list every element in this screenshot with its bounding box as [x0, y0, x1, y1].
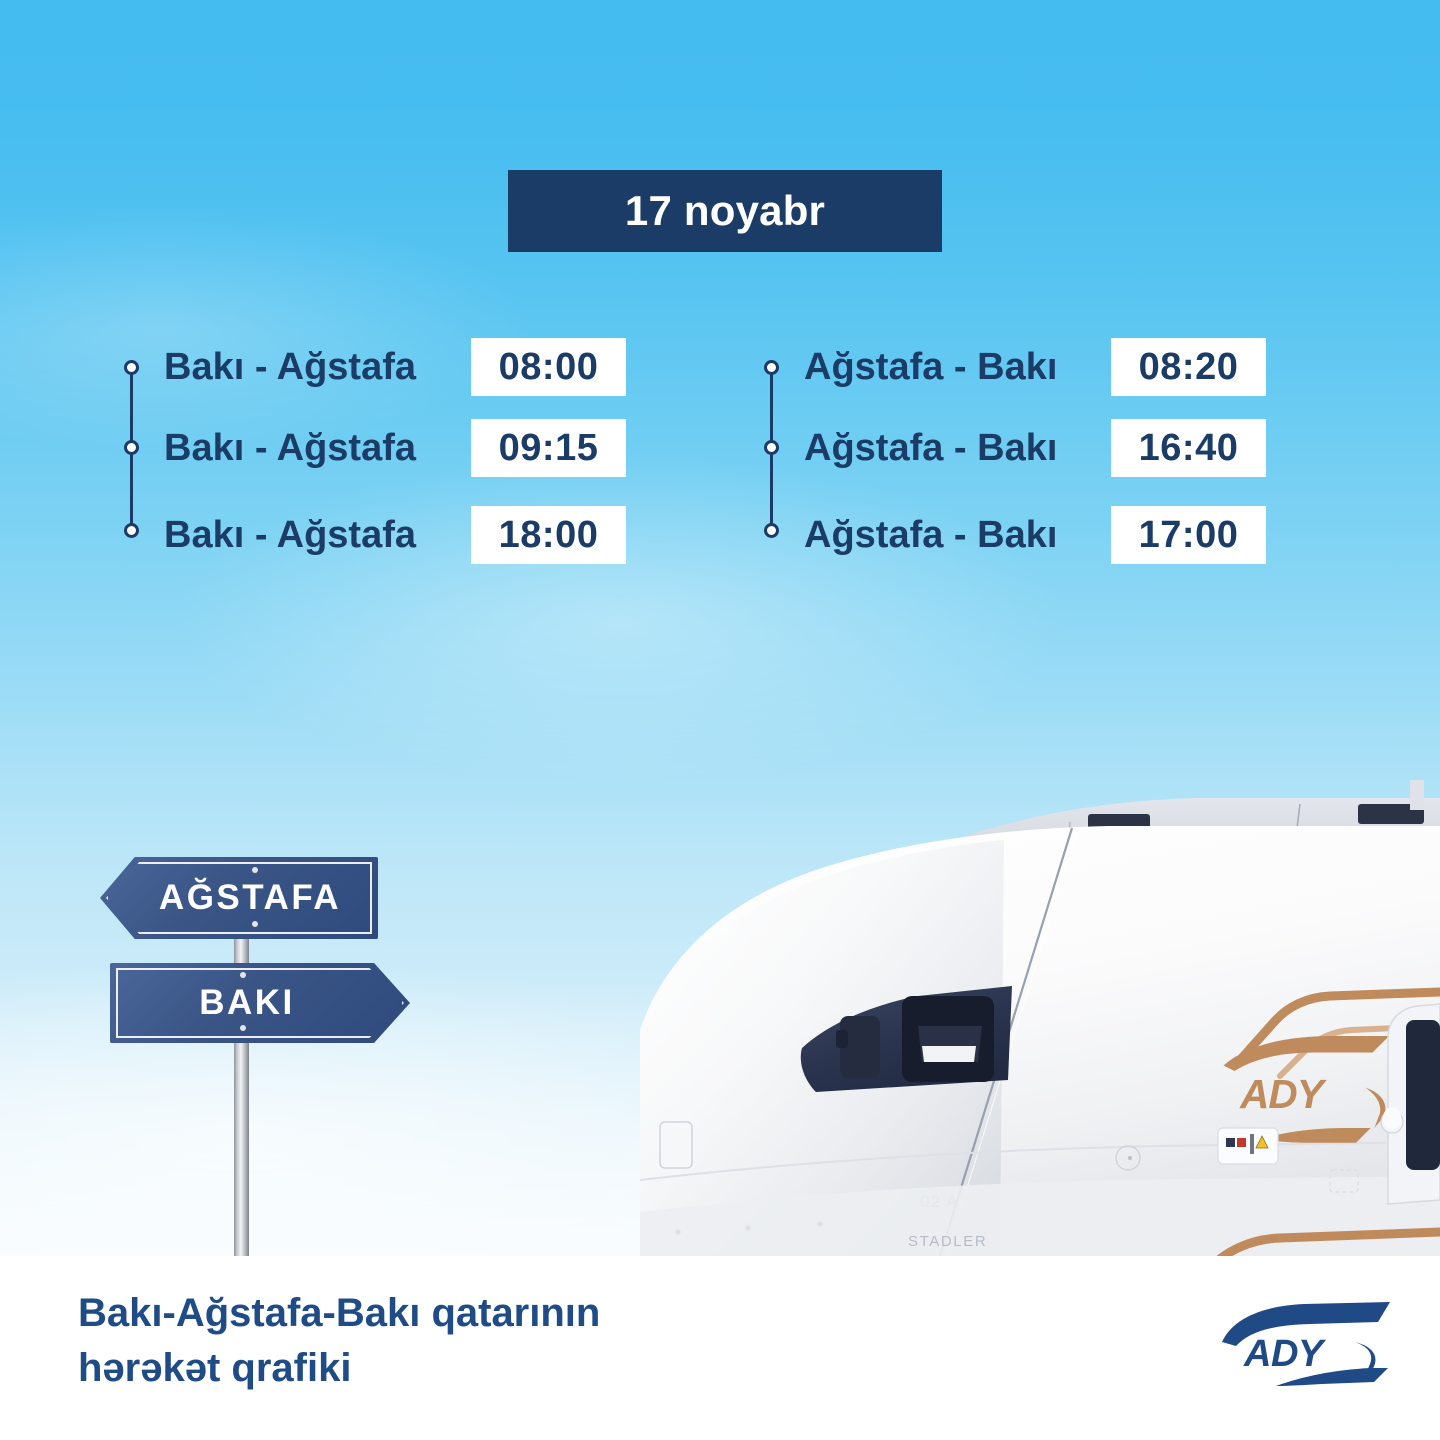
signpost-pole: [234, 905, 249, 1283]
timeline-dot: [764, 360, 779, 375]
schedule-route-label: Ağstafa - Bakı: [804, 506, 1057, 564]
timeline-dot: [124, 440, 139, 455]
sign-rivet: [252, 867, 258, 873]
schedule-route-label: Bakı - Ağstafa: [164, 419, 416, 477]
schedule-route-label: Bakı - Ağstafa: [164, 338, 416, 396]
schedule-time-chip: 08:20: [1111, 338, 1266, 396]
ady-logo: ADY: [1218, 1298, 1394, 1394]
footer-title: Bakı-Ağstafa-Bakı qatarının hərəkət qraf…: [78, 1286, 838, 1396]
signpost-sign-label: BAKI: [199, 983, 295, 1023]
timeline-outbound: [124, 360, 138, 536]
schedule-route-label: Ağstafa - Bakı: [804, 419, 1057, 477]
train-illustration: 02 A ADY: [640, 780, 1440, 1256]
date-banner-label: 17 noyabr: [625, 187, 825, 235]
footer-title-line1: Bakı-Ağstafa-Bakı qatarının: [78, 1291, 600, 1335]
sign-rivet: [252, 921, 258, 927]
signpost-sign-agstafa: AĞSTAFA: [100, 857, 378, 939]
poster-canvas: 02 A ADY: [0, 0, 1440, 1440]
date-banner: 17 noyabr: [508, 170, 942, 252]
schedule-time-chip: 17:00: [1111, 506, 1266, 564]
timeline-inbound: [764, 360, 778, 536]
ady-logo-wordmark: ADY: [1243, 1333, 1327, 1375]
timeline-dot: [764, 523, 779, 538]
schedule-route-label: Bakı - Ağstafa: [164, 506, 416, 564]
sign-rivet: [240, 972, 246, 978]
footer-title-line2: hərəkət qrafiki: [78, 1341, 838, 1396]
signpost-sign-label: AĞSTAFA: [159, 878, 341, 918]
schedule-time-chip: 08:00: [471, 338, 626, 396]
schedule-time-chip: 18:00: [471, 506, 626, 564]
train-manufacturer-text: STADLER: [908, 1233, 987, 1250]
signpost-sign-baki: BAKI: [110, 963, 410, 1043]
svg-text:ADY: ADY: [1239, 1071, 1328, 1117]
timeline-dot: [124, 360, 139, 375]
schedule-time-chip: 16:40: [1111, 419, 1266, 477]
timeline-dot: [764, 440, 779, 455]
sign-rivet: [240, 1025, 246, 1031]
schedule-route-label: Ağstafa - Bakı: [804, 338, 1057, 396]
schedule-time-chip: 09:15: [471, 419, 626, 477]
timeline-dot: [124, 523, 139, 538]
